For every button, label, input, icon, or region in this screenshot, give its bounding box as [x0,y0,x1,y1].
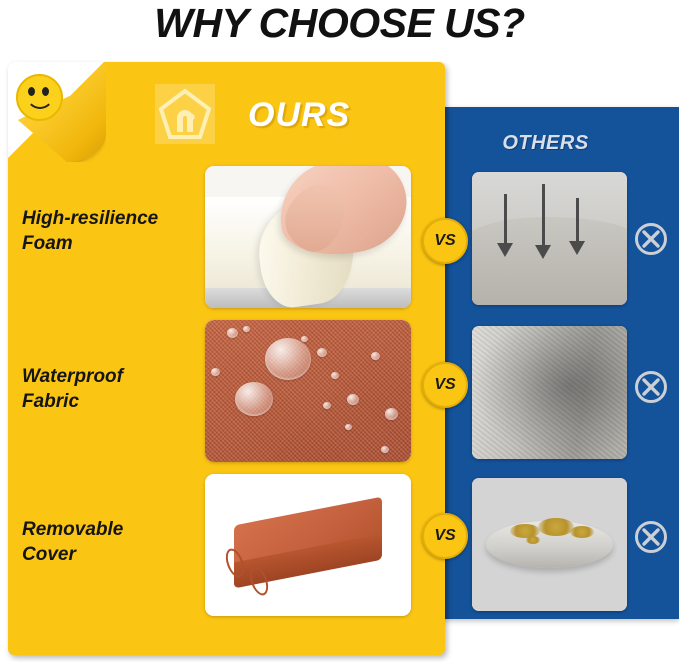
others-image-fabric [472,326,627,459]
others-image-foam [472,172,627,305]
feature-label-foam: High-resilience Foam [22,206,198,256]
stain-blob-3 [570,526,594,538]
feature-label-cover-line1: Removable [22,519,123,540]
water-drop-small-12 [381,446,389,453]
removable-cover-cushion-illustration [205,474,411,616]
water-drop-small-8 [301,336,308,342]
water-drop-small-9 [323,402,331,409]
feature-label-fabric-line2: Fabric [22,391,79,412]
water-drop-small-10 [345,424,352,430]
others-heading: OTHERS [443,132,648,155]
water-drop-large-2 [235,382,273,416]
page-title: WHY CHOOSE US? [0,0,679,46]
water-drop-small-4 [331,372,339,379]
water-drop-small-7 [385,408,398,420]
smiley-mouth [26,92,54,109]
feature-label-cover-line2: Cover [22,544,76,565]
water-drop-small-6 [371,352,380,360]
stained-cushion-illustration [472,478,627,611]
feature-label-foam-line2: Foam [22,233,73,254]
sagging-batting-illustration [472,172,627,305]
waterproof-fabric-illustration [205,320,411,462]
circle-x-icon-row-3 [634,520,668,554]
feature-label-foam-line1: High-resilience [22,208,158,229]
ours-image-cover [205,474,411,616]
water-drop-small-3 [317,348,327,357]
ours-image-fabric [205,320,411,462]
water-drop-small-11 [243,326,250,332]
down-arrow-3 [576,198,579,242]
soaked-fabric-illustration [472,326,627,459]
stain-blob-4 [526,536,540,544]
down-arrow-2 [542,184,545,246]
foam-pinch-illustration [205,166,411,308]
vs-badge-row-3: VS [422,513,468,559]
water-drop-small-2 [211,368,220,376]
stain-blob-2 [538,518,574,536]
ours-heading: OURS [248,96,350,135]
vs-badge-row-1: VS [422,218,468,264]
ours-image-foam [205,166,411,308]
others-image-cover [472,478,627,611]
feature-label-fabric-line1: Waterproof [22,366,123,387]
down-arrow-1 [504,194,507,244]
house-logo-icon [155,84,215,144]
feature-label-fabric: Waterproof Fabric [22,364,198,414]
sag-wave [472,217,627,305]
circle-x-icon-row-1 [634,222,668,256]
water-drop-large-1 [265,338,311,380]
water-drop-small-5 [347,394,359,405]
feature-label-cover: Removable Cover [22,517,198,567]
circle-x-icon-row-2 [634,370,668,404]
vs-badge-row-2: VS [422,362,468,408]
smiley-face-icon [16,74,63,121]
water-drop-small-1 [227,328,238,338]
